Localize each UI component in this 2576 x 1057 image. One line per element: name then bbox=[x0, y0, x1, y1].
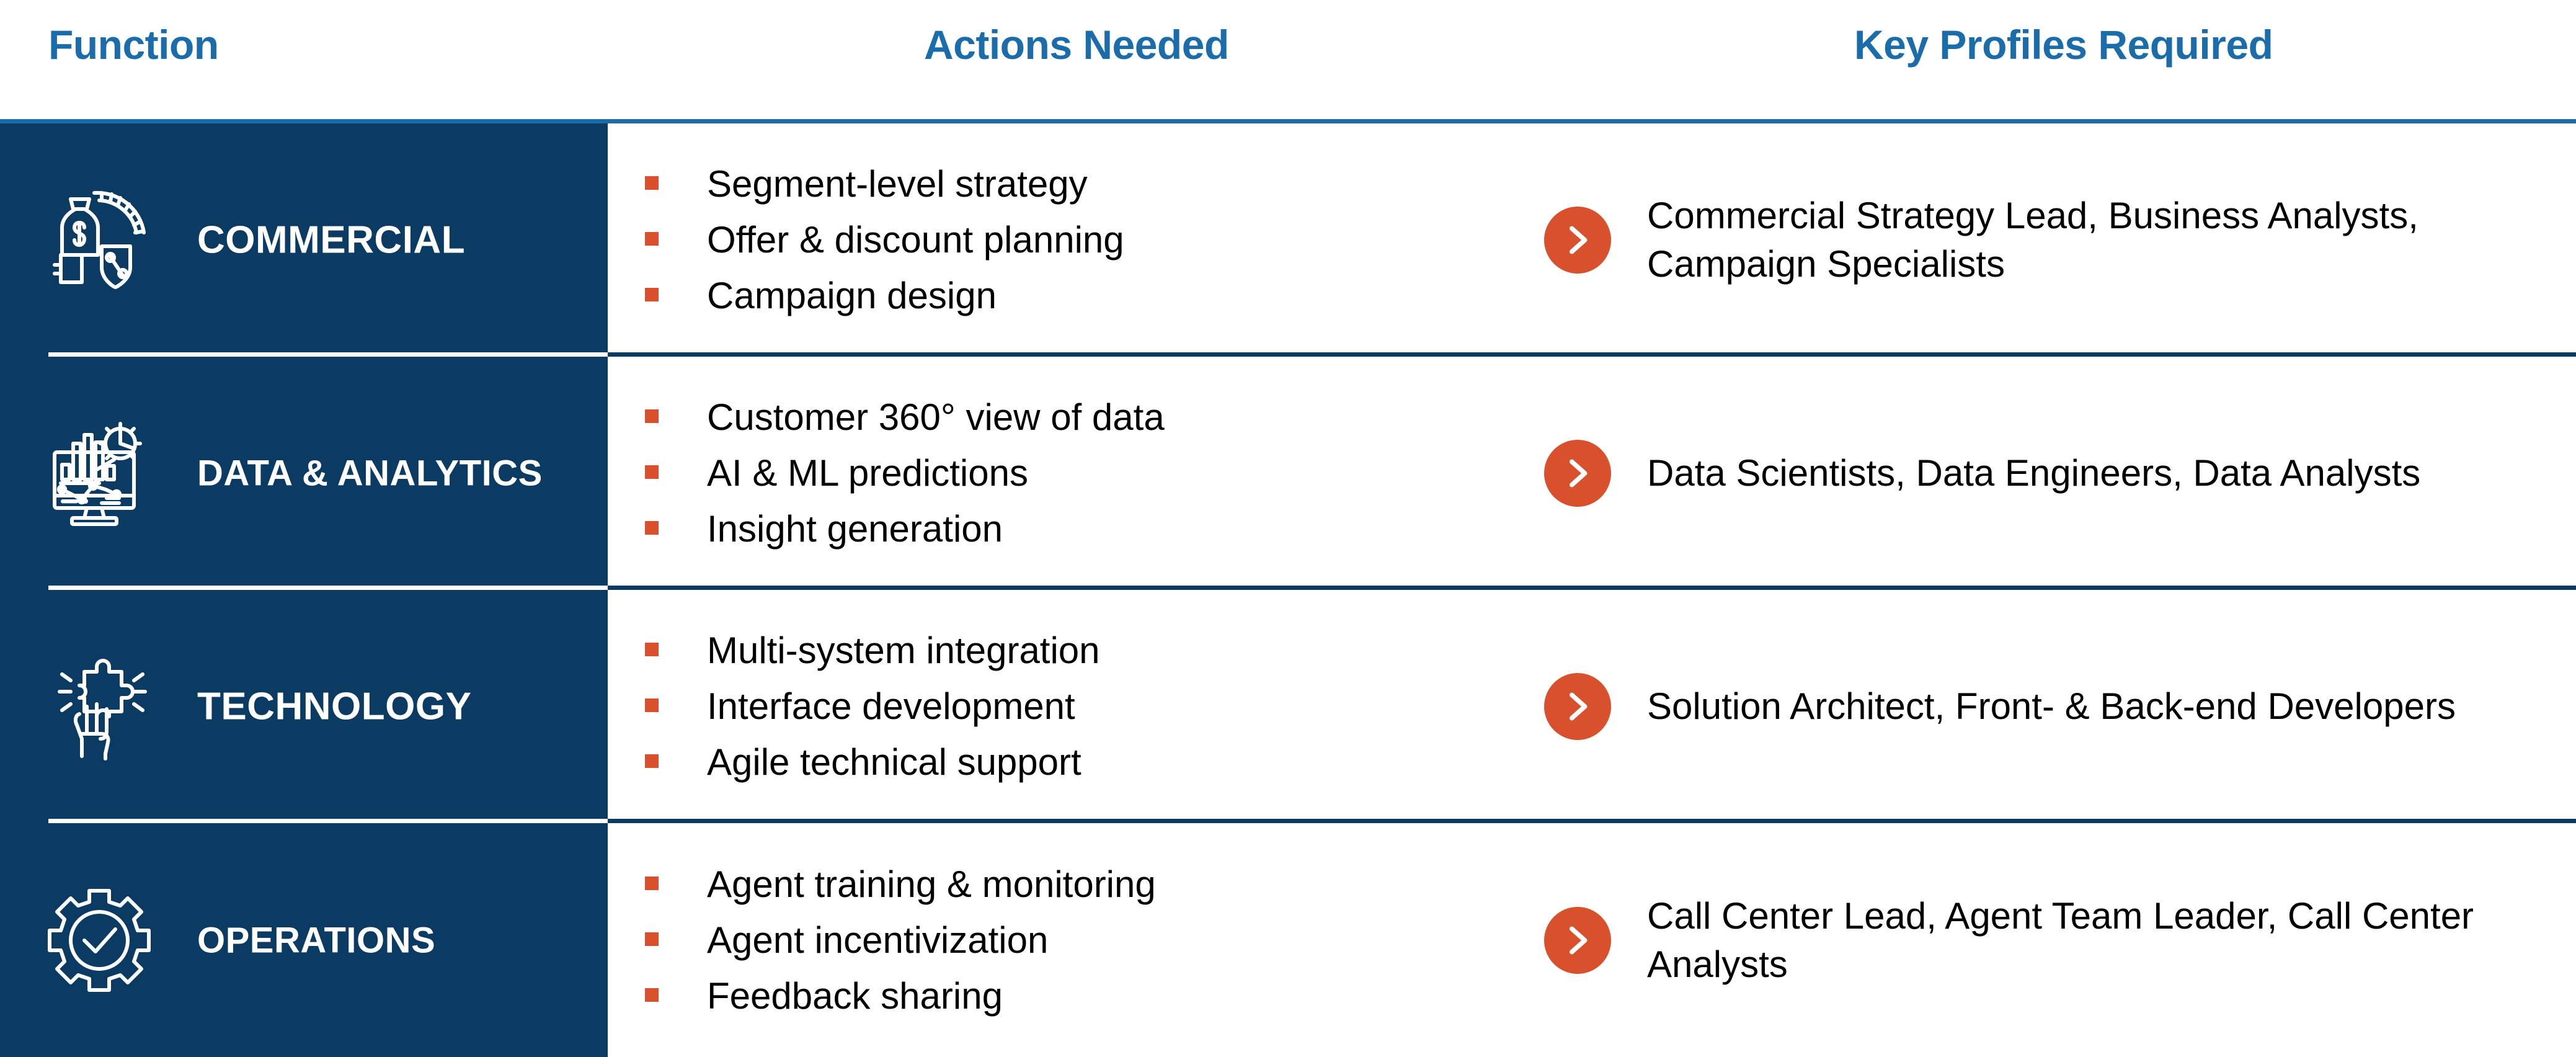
bullet-square-icon bbox=[645, 232, 659, 246]
action-text: Agent incentivization bbox=[707, 916, 1048, 965]
bullet-square-icon bbox=[645, 876, 659, 890]
bullet-square-icon bbox=[645, 698, 659, 712]
function-label: DATA & ANALYTICS bbox=[197, 453, 543, 494]
action-text: Agile technical support bbox=[707, 738, 1081, 787]
table-row: DATA & ANALYTICS Customer 360° view of d… bbox=[0, 357, 2576, 590]
action-text: Insight generation bbox=[707, 505, 1003, 553]
column-header-row: Function Actions Needed Key Profiles Req… bbox=[0, 0, 2576, 118]
action-text: Segment-level strategy bbox=[707, 160, 1088, 208]
function-panel-technology: TECHNOLOGY bbox=[0, 590, 608, 823]
column-header-actions: Actions Needed bbox=[924, 21, 1229, 68]
bullet-square-icon bbox=[645, 988, 659, 1002]
list-item: Campaign design bbox=[645, 272, 1463, 320]
list-item: Agent incentivization bbox=[645, 916, 1463, 965]
table-row: OPERATIONS Agent training & monitoring A… bbox=[0, 823, 2576, 1057]
chevron-right-icon bbox=[1544, 907, 1611, 974]
column-header-function: Function bbox=[48, 21, 219, 68]
profiles-cell: Commercial Strategy Lead, Business Analy… bbox=[1544, 192, 2561, 288]
table-row: COMMERCIAL Segment-level strategy Offer … bbox=[0, 123, 2576, 357]
profile-text: Commercial Strategy Lead, Business Analy… bbox=[1647, 192, 2561, 288]
chevron-right-icon bbox=[1544, 207, 1611, 274]
actions-list: Customer 360° view of data AI & ML predi… bbox=[645, 393, 1463, 553]
monitor-analytics-icon bbox=[37, 411, 161, 535]
action-text: Feedback sharing bbox=[707, 972, 1003, 1020]
list-item: Segment-level strategy bbox=[645, 160, 1463, 208]
action-text: Multi-system integration bbox=[707, 627, 1100, 675]
actions-list: Multi-system integration Interface devel… bbox=[645, 627, 1463, 787]
bullet-square-icon bbox=[645, 521, 659, 535]
header-divider bbox=[0, 119, 2576, 123]
list-item: Insight generation bbox=[645, 505, 1463, 553]
function-label: TECHNOLOGY bbox=[197, 685, 471, 729]
bullet-square-icon bbox=[645, 288, 659, 301]
actions-list: Segment-level strategy Offer & discount … bbox=[645, 160, 1463, 320]
bullet-square-icon bbox=[645, 465, 659, 479]
bullet-square-icon bbox=[645, 932, 659, 946]
column-header-profiles: Key Profiles Required bbox=[1854, 21, 2273, 68]
table-row: TECHNOLOGY Multi-system integration Inte… bbox=[0, 590, 2576, 823]
row-divider-body bbox=[608, 586, 2576, 590]
list-item: AI & ML predictions bbox=[645, 449, 1463, 497]
money-bag-discount-icon bbox=[37, 178, 161, 302]
list-item: Feedback sharing bbox=[645, 972, 1463, 1020]
profiles-cell: Call Center Lead, Agent Team Leader, Cal… bbox=[1544, 892, 2561, 989]
profile-text: Solution Architect, Front- & Back-end De… bbox=[1647, 682, 2456, 731]
matrix-table-body: COMMERCIAL Segment-level strategy Offer … bbox=[0, 123, 2576, 1057]
chevron-right-icon bbox=[1544, 673, 1611, 740]
puzzle-piece-hand-icon bbox=[37, 644, 161, 769]
bullet-square-icon bbox=[645, 643, 659, 656]
row-divider-panel bbox=[48, 586, 608, 590]
list-item: Customer 360° view of data bbox=[645, 393, 1463, 442]
function-panel-operations: OPERATIONS bbox=[0, 823, 608, 1057]
actions-list: Agent training & monitoring Agent incent… bbox=[645, 860, 1463, 1020]
action-text: Customer 360° view of data bbox=[707, 393, 1165, 442]
profile-text: Call Center Lead, Agent Team Leader, Cal… bbox=[1647, 892, 2561, 989]
action-text: Offer & discount planning bbox=[707, 216, 1124, 264]
function-panel-commercial: COMMERCIAL bbox=[0, 123, 608, 357]
profiles-cell: Solution Architect, Front- & Back-end De… bbox=[1544, 673, 2561, 740]
profiles-cell: Data Scientists, Data Engineers, Data An… bbox=[1544, 440, 2561, 507]
gear-checkmark-icon bbox=[37, 878, 161, 1002]
list-item: Multi-system integration bbox=[645, 627, 1463, 675]
action-text: Campaign design bbox=[707, 272, 997, 320]
action-text: AI & ML predictions bbox=[707, 449, 1028, 497]
function-label: OPERATIONS bbox=[197, 919, 435, 961]
bullet-square-icon bbox=[645, 176, 659, 190]
function-panel-data-analytics: DATA & ANALYTICS bbox=[0, 357, 608, 590]
action-text: Agent training & monitoring bbox=[707, 860, 1156, 909]
function-label: COMMERCIAL bbox=[197, 218, 465, 262]
row-divider-panel bbox=[48, 819, 608, 823]
list-item: Offer & discount planning bbox=[645, 216, 1463, 264]
bullet-square-icon bbox=[645, 409, 659, 423]
list-item: Agent training & monitoring bbox=[645, 860, 1463, 909]
row-divider-body bbox=[608, 819, 2576, 823]
profile-text: Data Scientists, Data Engineers, Data An… bbox=[1647, 449, 2420, 497]
list-item: Agile technical support bbox=[645, 738, 1463, 787]
bullet-square-icon bbox=[645, 754, 659, 768]
list-item: Interface development bbox=[645, 682, 1463, 731]
row-divider-body bbox=[608, 352, 2576, 357]
chevron-right-icon bbox=[1544, 440, 1611, 507]
action-text: Interface development bbox=[707, 682, 1075, 731]
row-divider-panel bbox=[48, 352, 608, 357]
